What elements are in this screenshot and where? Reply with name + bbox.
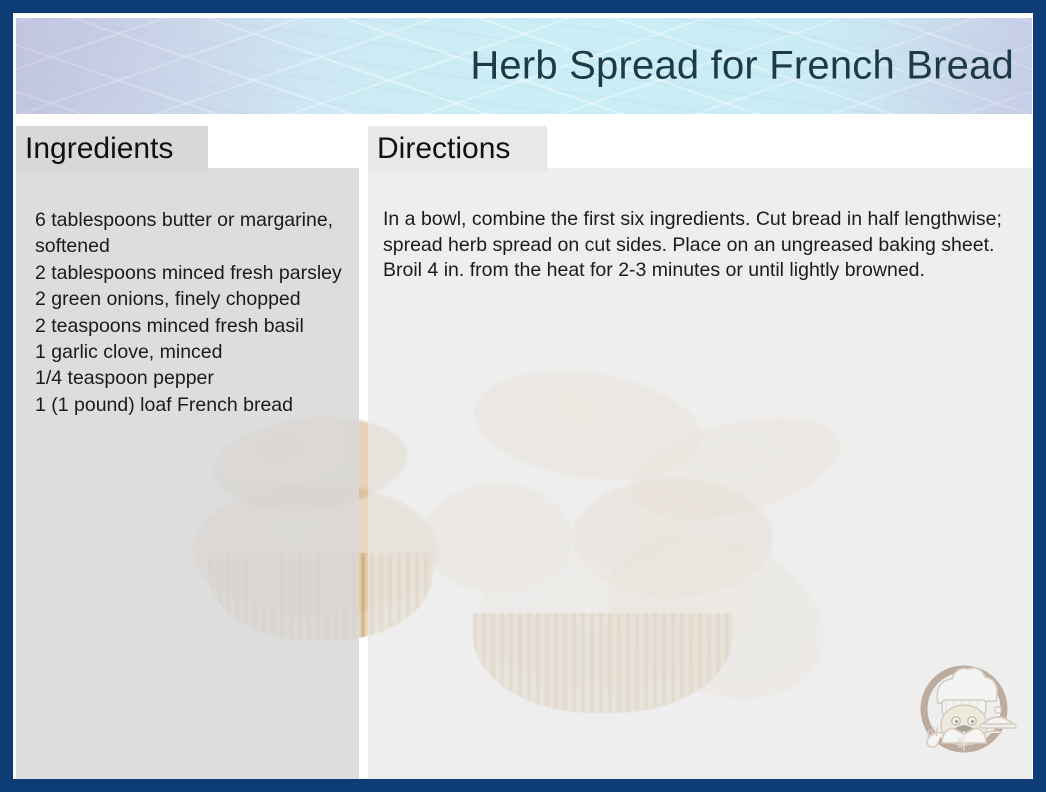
directions-text: In a bowl, combine the first six ingredi… xyxy=(383,207,1028,284)
list-item: 1 (1 pound) loaf French bread xyxy=(35,392,367,418)
tab-ingredients[interactable]: Ingredients xyxy=(16,126,208,171)
list-item: 2 tablespoons minced fresh parsley xyxy=(35,260,367,286)
list-item: 6 tablespoons butter or margarine, softe… xyxy=(35,207,367,260)
recipe-slide: Herb Spread for French Bread Ingredients… xyxy=(0,0,1046,792)
tab-ingredients-label: Ingredients xyxy=(25,134,173,164)
list-item: 1/4 teaspoon pepper xyxy=(35,365,367,391)
list-item: 2 teaspoons minced fresh basil xyxy=(35,313,367,339)
list-item: 2 green onions, finely chopped xyxy=(35,286,367,312)
tab-directions[interactable]: Directions xyxy=(368,126,547,171)
page-title: Herb Spread for French Bread xyxy=(470,44,1014,89)
ingredients-list: 6 tablespoons butter or margarine, softe… xyxy=(35,207,367,418)
tab-directions-label: Directions xyxy=(377,134,510,164)
chef-mascot-logo xyxy=(908,645,1020,757)
title-banner: Herb Spread for French Bread xyxy=(16,18,1032,114)
list-item: 1 garlic clove, minced xyxy=(35,339,367,365)
